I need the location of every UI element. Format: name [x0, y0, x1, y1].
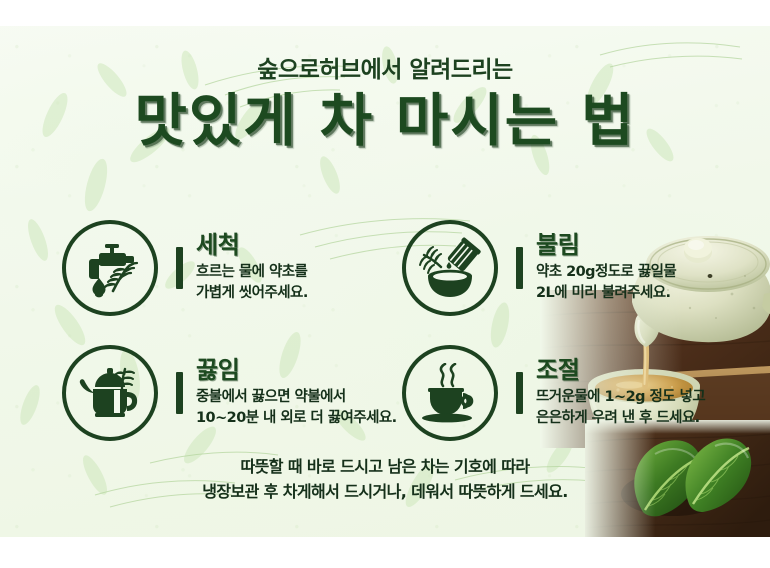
top-white-band	[0, 0, 770, 26]
step-title: 끓임	[196, 357, 402, 385]
step-text-boil: 끓임 중불에서 끓으면 약불에서 10~20분 내 외로 더 끓여주세요.	[196, 357, 402, 429]
step-divider-rule	[176, 372, 183, 414]
step-title: 불림	[536, 232, 722, 260]
footer-note: 따뜻할 때 바로 드시고 남은 차는 기호에 따라 냉장보관 후 차게해서 드시…	[0, 455, 770, 505]
steaming-cup-icon	[402, 345, 498, 441]
step-description: 흐르는 물에 약초를 가볍게 씻어주세요.	[196, 262, 402, 303]
step-card-adjust: 조절 뜨거운물에 1~2g 정도 넣고 은은하게 우려 낸 후 드세요.	[402, 330, 722, 455]
poster-header: 숲으로허브에서 알려드리는 맛있게 차 마시는 법	[0, 58, 770, 153]
step-card-soak: 불림 약초 20g정도로 끓일물 2L에 미리 불려주세요.	[402, 205, 722, 330]
step-description: 뜨거운물에 1~2g 정도 넣고 은은하게 우려 낸 후 드세요.	[536, 387, 722, 428]
step-title: 세척	[196, 232, 402, 260]
bottom-white-band	[0, 537, 770, 568]
step-card-wash: 세척 흐르는 물에 약초를 가볍게 씻어주세요.	[62, 205, 402, 330]
step-text-soak: 불림 약초 20g정도로 끓일물 2L에 미리 불려주세요.	[536, 232, 722, 304]
step-description: 중불에서 끓으면 약불에서 10~20분 내 외로 더 끓여주세요.	[196, 387, 402, 428]
step-divider-rule	[516, 372, 523, 414]
eyebrow-text: 숲으로허브에서 알려드리는	[0, 58, 770, 83]
step-card-boil: 끓임 중불에서 끓으면 약불에서 10~20분 내 외로 더 끓여주세요.	[62, 330, 402, 455]
faucet-icon	[62, 220, 158, 316]
step-grid: 세척 흐르는 물에 약초를 가볍게 씻어주세요.	[62, 205, 722, 455]
kettle-icon	[62, 345, 158, 441]
step-text-adjust: 조절 뜨거운물에 1~2g 정도 넣고 은은하게 우려 낸 후 드세요.	[536, 357, 722, 429]
step-title: 조절	[536, 357, 722, 385]
step-description: 약초 20g정도로 끓일물 2L에 미리 불려주세요.	[536, 262, 722, 303]
step-divider-rule	[516, 247, 523, 289]
bowl-pour-icon	[402, 220, 498, 316]
step-text-wash: 세척 흐르는 물에 약초를 가볍게 씻어주세요.	[196, 232, 402, 304]
step-divider-rule	[176, 247, 183, 289]
infographic-poster: 숲으로허브에서 알려드리는 맛있게 차 마시는 법	[0, 0, 770, 568]
page-title: 맛있게 차 마시는 법	[0, 91, 770, 153]
